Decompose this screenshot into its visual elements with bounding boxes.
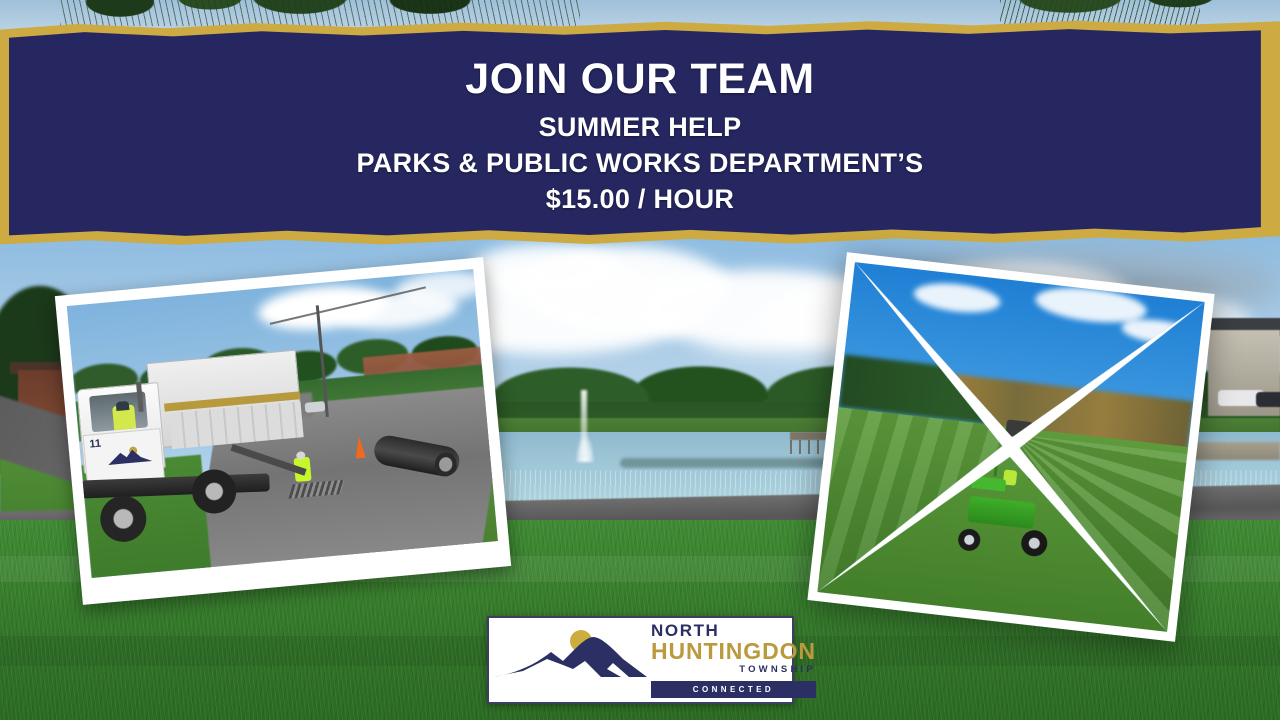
traffic-cone	[354, 436, 366, 459]
logo-name-main: HUNTINGDON	[651, 640, 816, 663]
dump-truck: 11	[67, 334, 312, 574]
cloud	[470, 244, 620, 294]
truck-front-wheel	[98, 494, 148, 544]
fountain-jet	[581, 390, 587, 454]
photo-left-image: 11	[67, 269, 498, 578]
truck-driver-head	[116, 401, 130, 411]
logo-wordmark: NORTH HUNTINGDON TOWNSHIP CONNECTED	[651, 622, 822, 697]
township-logo-plaque: NORTH HUNTINGDON TOWNSHIP CONNECTED	[487, 616, 794, 704]
photo-parks-collage	[807, 252, 1214, 642]
headline-banner: JOIN OUR TEAM SUMMER HELP PARKS & PUBLIC…	[0, 18, 1280, 250]
parked-car	[1256, 392, 1280, 407]
logo-tagline: CONNECTED	[651, 681, 816, 698]
photo-public-works-truck: 11	[55, 257, 511, 605]
mountain-range-with-sun-icon	[489, 625, 651, 695]
poster-headline: JOIN OUR TEAM	[465, 57, 814, 103]
poster-subline-department: PARKS & PUBLIC WORKS DEPARTMENT’S	[357, 146, 924, 182]
banner-text-block: JOIN OUR TEAM SUMMER HELP PARKS & PUBLIC…	[0, 18, 1280, 250]
oncoming-car	[305, 401, 326, 413]
truck-hydraulic-arm	[231, 444, 307, 476]
poster-subline-position: SUMMER HELP	[539, 110, 742, 146]
logo-name-sub: TOWNSHIP	[651, 663, 816, 677]
recruitment-poster: JOIN OUR TEAM SUMMER HELP PARKS & PUBLIC…	[0, 0, 1280, 720]
truck-township-logo-icon	[106, 443, 154, 469]
poster-subline-wage: $15.00 / HOUR	[546, 182, 734, 218]
truck-unit-number: 11	[89, 438, 102, 451]
